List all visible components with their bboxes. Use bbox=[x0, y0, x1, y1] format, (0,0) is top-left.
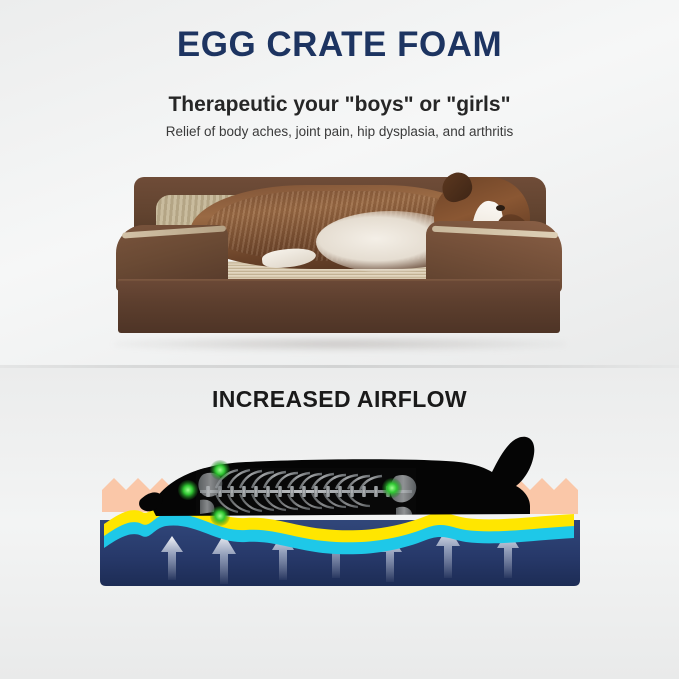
section-title-airflow: INCREASED AIRFLOW bbox=[0, 386, 679, 413]
product-photo bbox=[96, 163, 584, 353]
pressure-point bbox=[210, 460, 230, 480]
dog-xray-silhouette bbox=[139, 437, 534, 526]
pressure-point bbox=[178, 480, 198, 500]
bed-base-block bbox=[118, 281, 560, 333]
bed-drop-shadow bbox=[114, 337, 566, 351]
page-title: EGG CRATE FOAM bbox=[0, 25, 679, 65]
product-infographic: EGG CRATE FOAM Therapeutic your "boys" o… bbox=[0, 0, 679, 679]
pressure-point bbox=[210, 506, 230, 526]
dog-eye bbox=[496, 205, 505, 211]
top-panel: EGG CRATE FOAM Therapeutic your "boys" o… bbox=[0, 0, 679, 366]
pressure-point bbox=[382, 478, 402, 498]
airflow-diagram bbox=[96, 428, 584, 608]
benefit-description: Relief of body aches, joint pain, hip dy… bbox=[0, 124, 679, 139]
subheading: Therapeutic your "boys" or "girls" bbox=[0, 93, 679, 117]
